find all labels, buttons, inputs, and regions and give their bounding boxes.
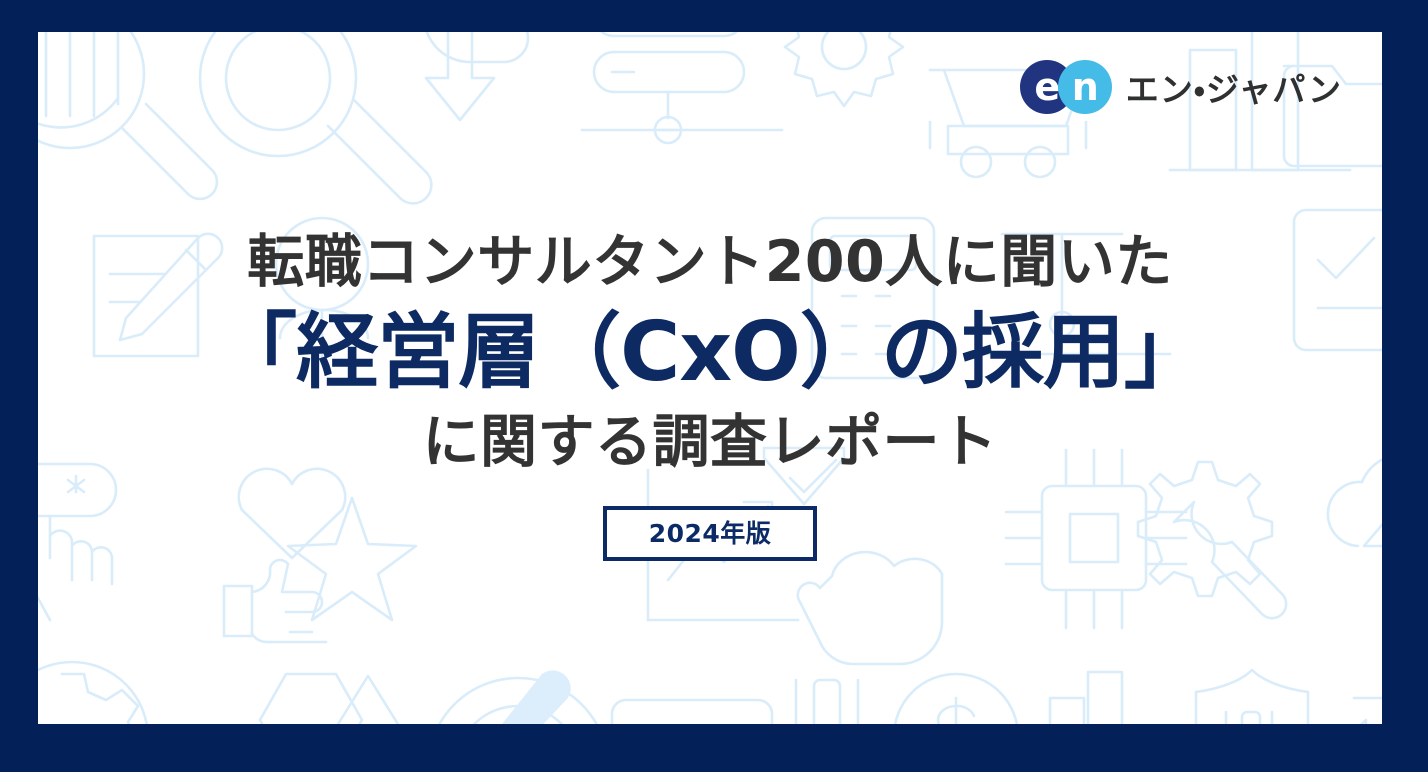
cover-panel: e n エン・ジャパン 転職コンサルタント200人に聞いた 「経営層（CxO）の… <box>38 32 1382 724</box>
report-cover-slide: e n エン・ジャパン 転職コンサルタント200人に聞いた 「経営層（CxO）の… <box>0 0 1428 772</box>
headline-eyebrow: 転職コンサルタント200人に聞いた <box>247 229 1172 296</box>
headline-sub: に関する調査レポート <box>423 408 998 476</box>
headline-main: 「経営層（CxO）の採用」 <box>215 306 1205 399</box>
logo-letter-n: n <box>1058 60 1112 114</box>
en-logo-mark: e n <box>1020 60 1112 114</box>
year-badge: 2024年版 <box>603 506 818 561</box>
logo-wordmark: エン・ジャパン <box>1126 63 1342 111</box>
cover-content: 転職コンサルタント200人に聞いた 「経営層（CxO）の採用」 に関する調査レポ… <box>38 32 1382 724</box>
en-japan-logo: e n エン・ジャパン <box>1020 60 1342 114</box>
